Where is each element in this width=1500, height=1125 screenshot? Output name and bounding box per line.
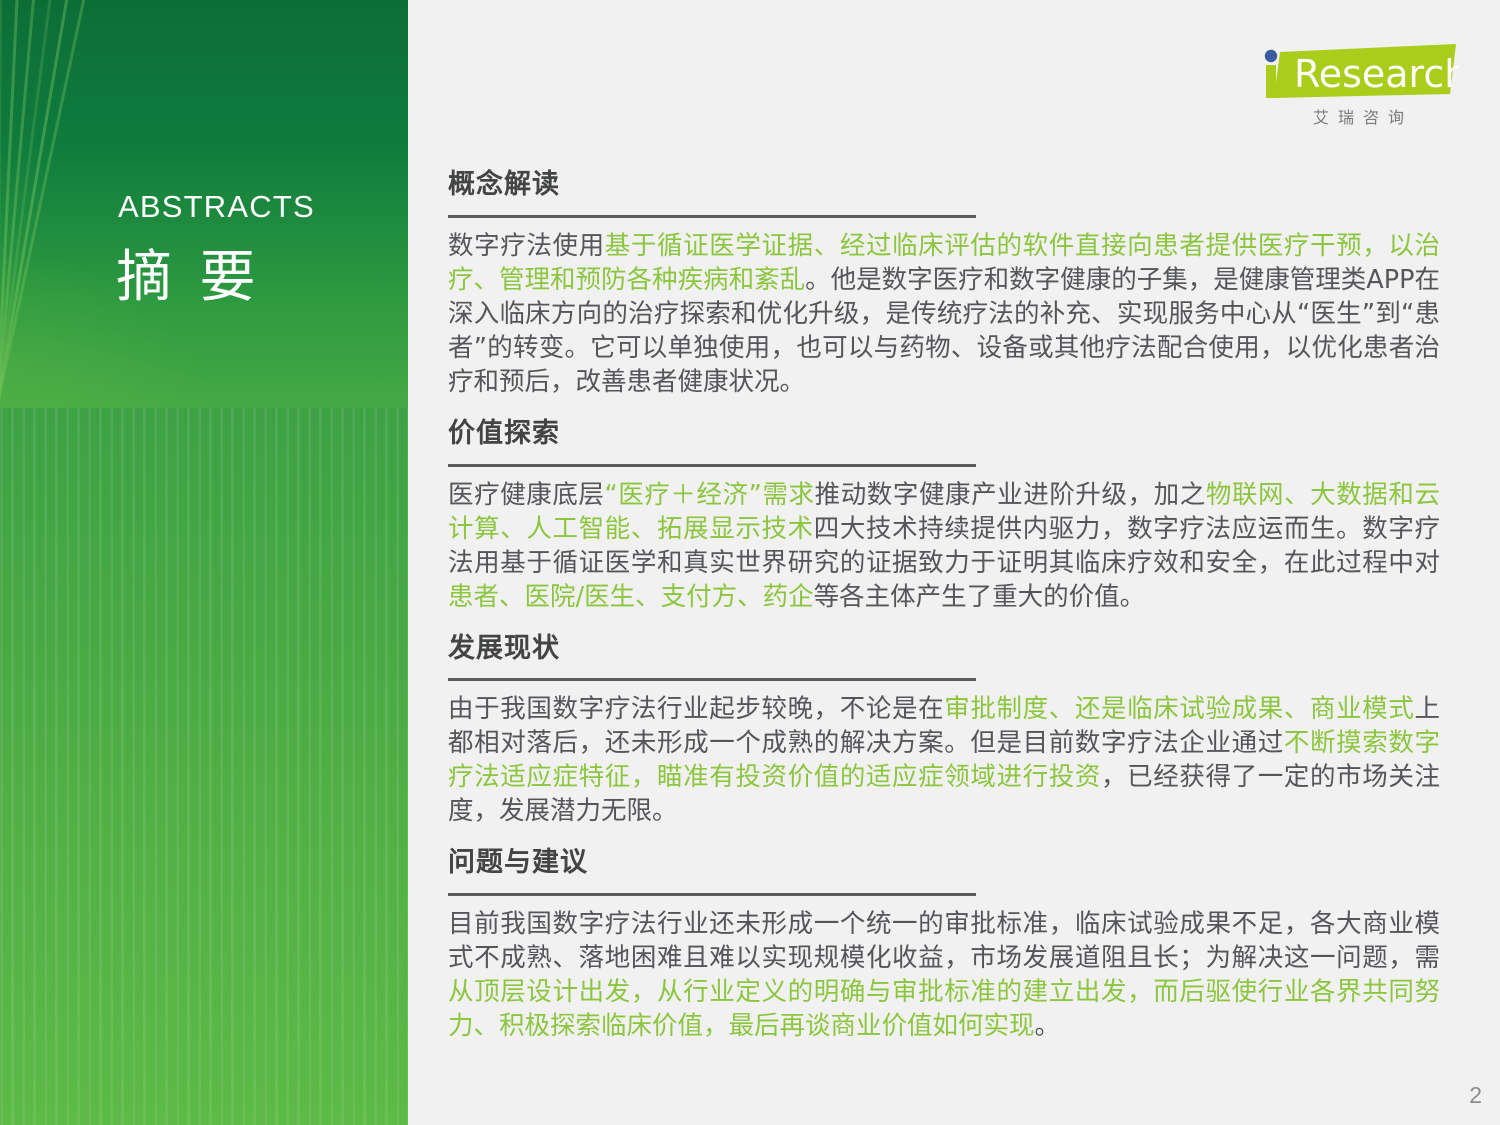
abstract-section: 价值探索医疗健康底层“医疗＋经济”需求推动数字健康产业进阶升级，加之物联网、大数… bbox=[448, 417, 1448, 614]
section-body: 医疗健康底层“医疗＋经济”需求推动数字健康产业进阶升级，加之物联网、大数据和云计… bbox=[448, 478, 1440, 614]
abstract-section: 问题与建议目前我国数字疗法行业还未形成一个统一的审批标准，临床试验成果不足，各大… bbox=[448, 846, 1448, 1043]
page-number: 2 bbox=[1469, 1082, 1482, 1109]
text-run: 数字疗法使用 bbox=[448, 231, 605, 261]
stripe-background bbox=[0, 408, 408, 1125]
section-heading: 概念解读 bbox=[448, 168, 1448, 202]
left-decorative-panel bbox=[0, 0, 408, 1125]
text-run: 等各主体产生了重大的价值。 bbox=[814, 582, 1146, 612]
panel-title-block: ABSTRACTS 摘 要 bbox=[0, 188, 408, 309]
section-body: 目前我国数字疗法行业还未形成一个统一的审批标准，临床试验成果不足，各大商业模式不… bbox=[448, 907, 1440, 1043]
stripe-layer-dark bbox=[0, 408, 408, 1125]
abstract-sections: 概念解读数字疗法使用基于循证医学证据、经过临床评估的软件直接向患者提供医疗干预，… bbox=[448, 168, 1448, 1061]
text-run: 。 bbox=[1035, 1011, 1061, 1041]
logo-mark-icon: Research bbox=[1258, 42, 1458, 102]
abstract-section: 发展现状由于我国数字疗法行业起步较晚，不论是在审批制度、还是临床试验成果、商业模… bbox=[448, 632, 1448, 829]
section-divider bbox=[448, 464, 976, 467]
section-divider bbox=[448, 893, 976, 896]
highlighted-text-run: 从顶层设计出发，从行业定义的明确与审批标准的建立出发，而后驱使行业各界共同努力、… bbox=[448, 977, 1440, 1041]
abstracts-eyebrow: ABSTRACTS bbox=[0, 188, 408, 227]
section-heading: 价值探索 bbox=[448, 417, 1448, 451]
highlighted-text-run: 患者、医院/医生、支付方、药企 bbox=[448, 582, 814, 612]
highlighted-text-run: 审批制度、还是临床试验成果、商业模式 bbox=[944, 694, 1414, 724]
section-heading: 发展现状 bbox=[448, 632, 1448, 666]
svg-text:Research: Research bbox=[1294, 52, 1458, 96]
page-title: 摘 要 bbox=[0, 245, 408, 309]
section-divider bbox=[448, 215, 976, 218]
iresearch-logo: Research 艾瑞咨询 bbox=[1258, 42, 1458, 134]
logo-subtitle: 艾瑞咨询 bbox=[1268, 104, 1458, 128]
text-run: 目前我国数字疗法行业还未形成一个统一的审批标准，临床试验成果不足，各大商业模式不… bbox=[448, 909, 1440, 973]
text-run: 由于我国数字疗法行业起步较晚，不论是在 bbox=[448, 694, 944, 724]
highlighted-text-run: “医疗＋经济”需求 bbox=[604, 480, 814, 510]
text-run: 推动数字健康产业进阶升级，加之 bbox=[815, 480, 1206, 510]
section-body: 由于我国数字疗法行业起步较晚，不论是在审批制度、还是临床试验成果、商业模式上都相… bbox=[448, 692, 1440, 828]
section-divider bbox=[448, 678, 976, 681]
section-body: 数字疗法使用基于循证医学证据、经过临床评估的软件直接向患者提供医疗干预，以治疗、… bbox=[448, 229, 1440, 399]
abstract-section: 概念解读数字疗法使用基于循证医学证据、经过临床评估的软件直接向患者提供医疗干预，… bbox=[448, 168, 1448, 399]
slide-root: ABSTRACTS 摘 要 Research 艾瑞咨询 概念解读数字疗法使用基于… bbox=[0, 0, 1500, 1125]
section-heading: 问题与建议 bbox=[448, 846, 1448, 880]
text-run: 医疗健康底层 bbox=[448, 480, 604, 510]
